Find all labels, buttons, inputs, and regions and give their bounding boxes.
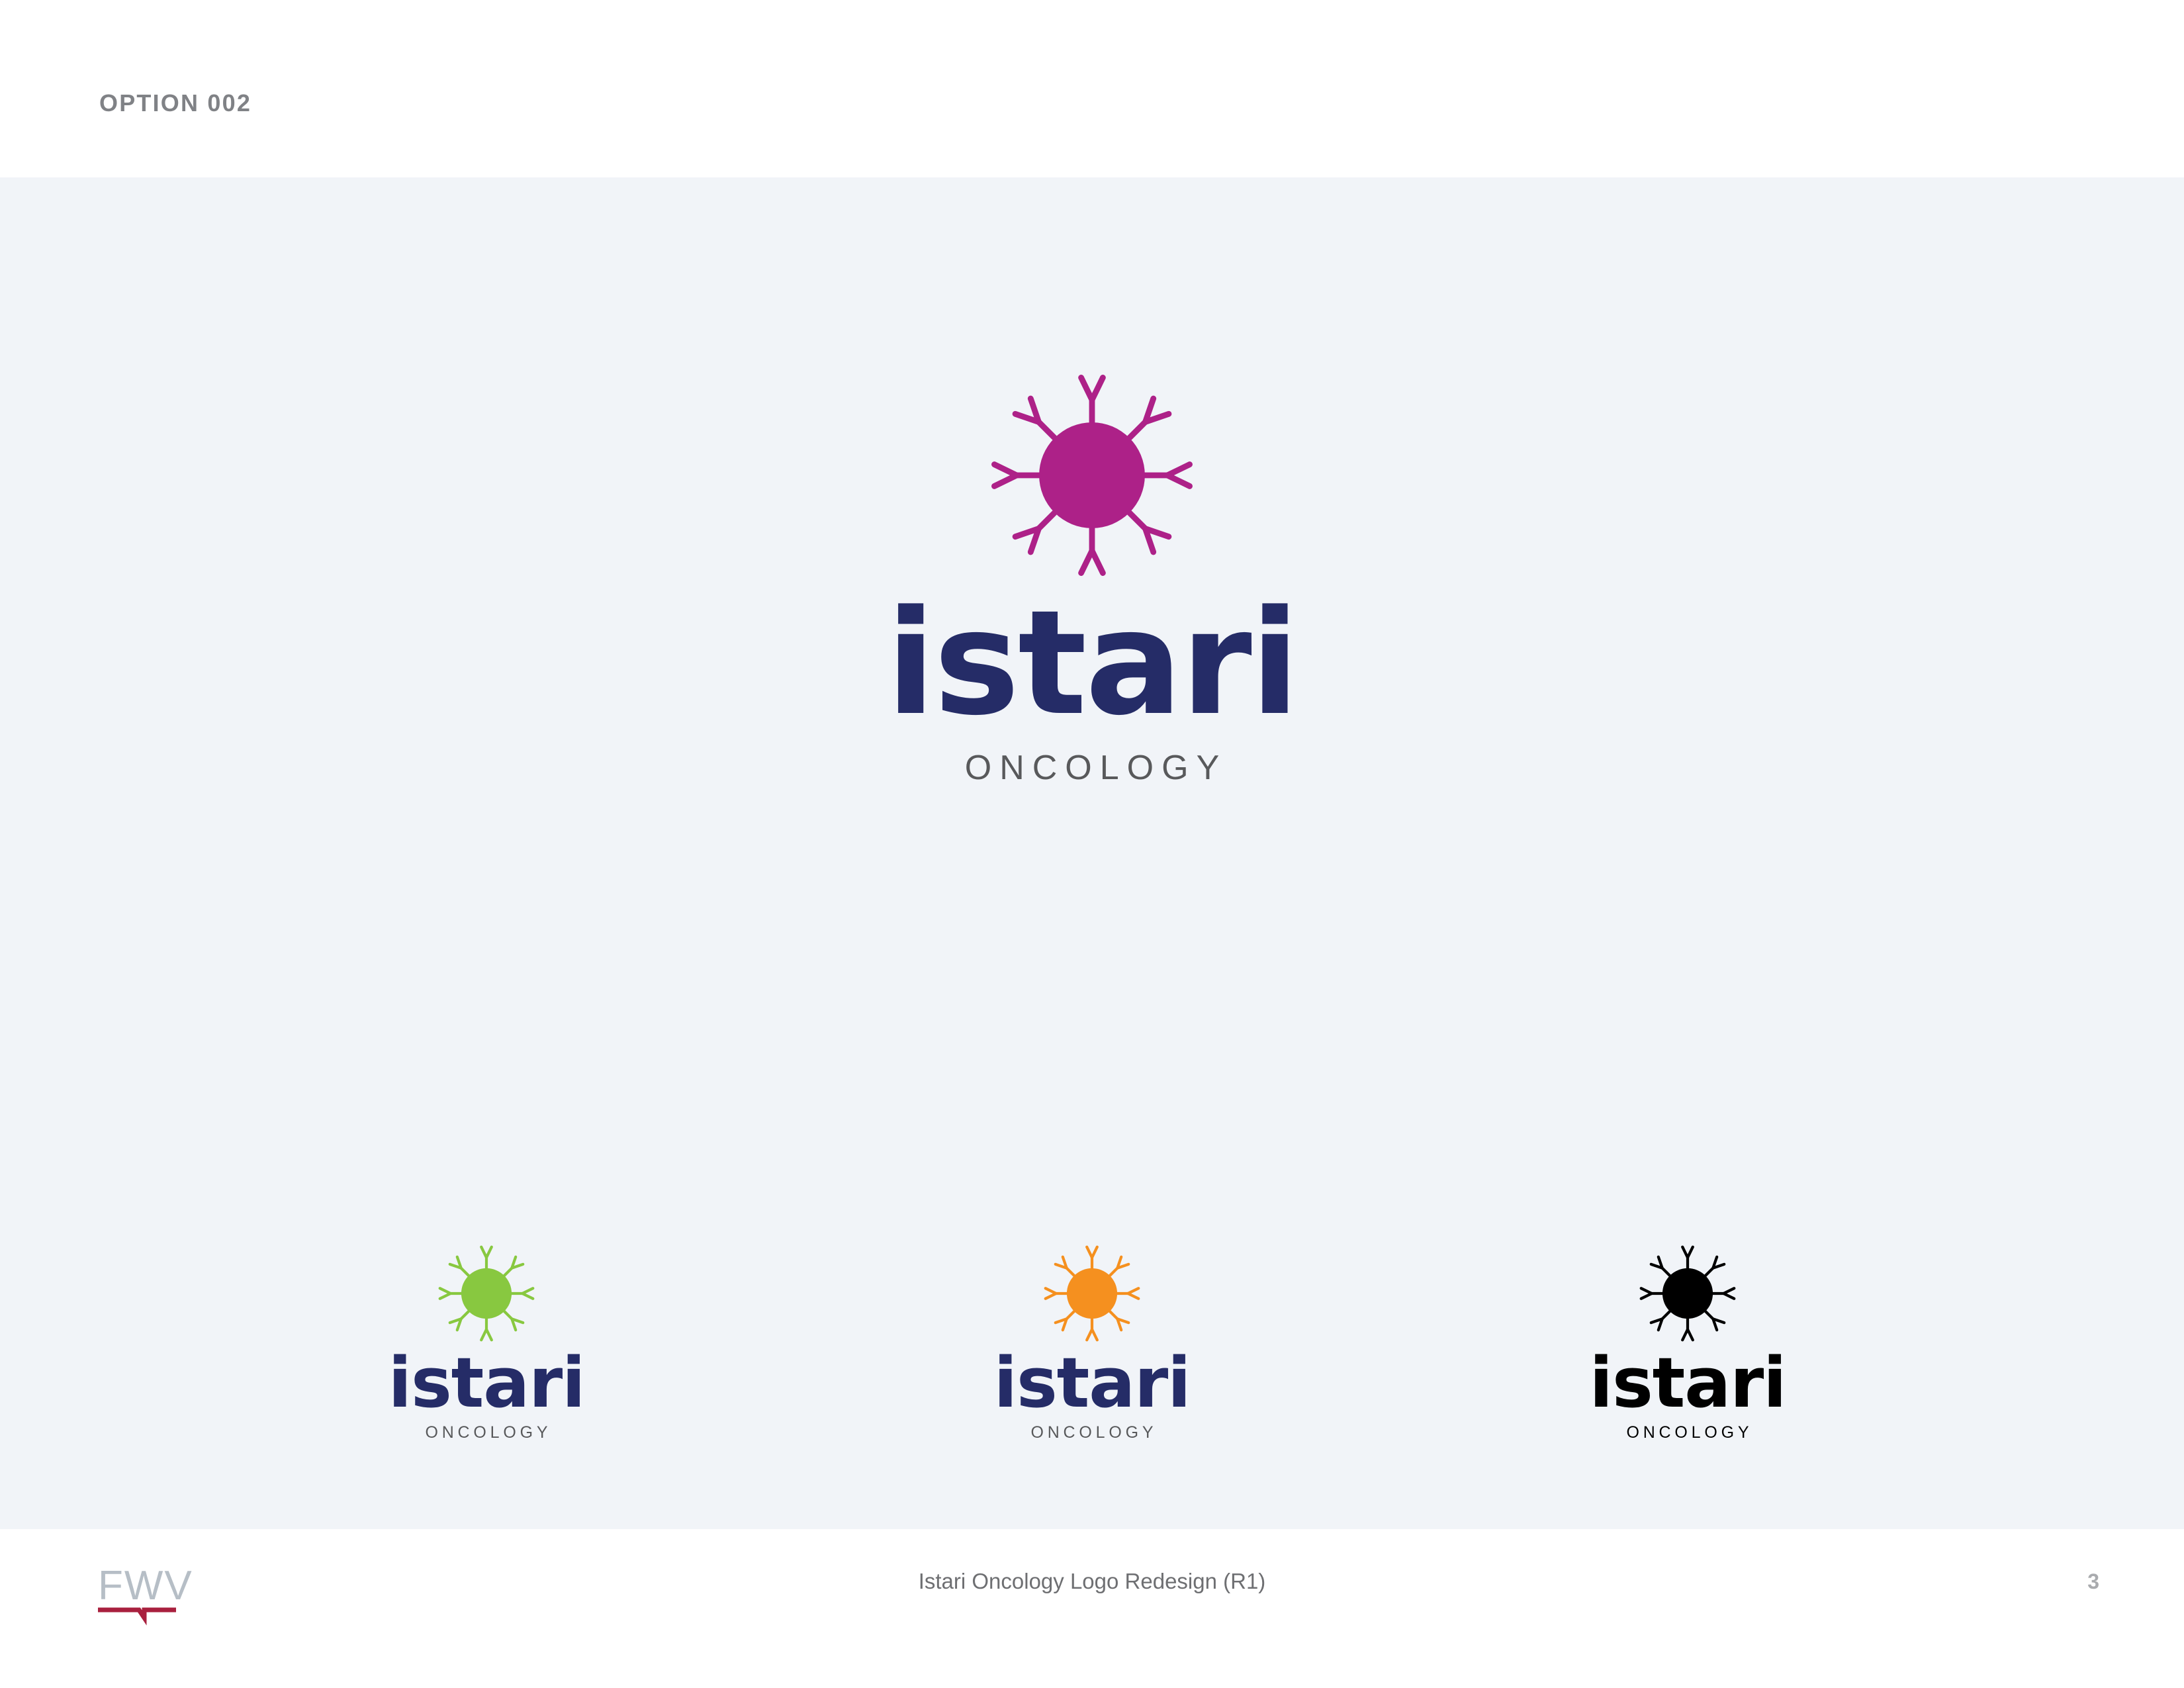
black-logo-variant: istari ONCOLOGY (1516, 1240, 1860, 1441)
primary-wordmark: istari (886, 592, 1298, 736)
variant-tagline: ONCOLOGY (422, 1425, 552, 1441)
variant-wordmark: istari (994, 1348, 1191, 1417)
logo-canvas-panel: istari ONCOLOGY istari ONCOLOGY istari (0, 177, 2184, 1529)
variant-wordmark: istari (1590, 1348, 1786, 1417)
orange-mark-wrapper (1038, 1240, 1146, 1347)
virus-core-circle (1039, 422, 1145, 528)
virus-core-circle (1662, 1268, 1713, 1319)
orange-logo-variant: istari ONCOLOGY (920, 1240, 1264, 1441)
virus-burst-icon (1038, 1240, 1146, 1347)
option-label: OPTION 002 (99, 89, 251, 117)
color-variants-row: istari ONCOLOGY istari ONCOLOGY istari O (0, 1240, 2184, 1538)
slide-footer: FWV Istari Oncology Logo Redesign (R1) 3 (0, 1529, 2184, 1688)
green-logo-variant: istari ONCOLOGY (314, 1240, 659, 1441)
black-mark-wrapper (1634, 1240, 1741, 1347)
variant-wordmark: istari (388, 1348, 585, 1417)
virus-burst-icon (979, 363, 1205, 588)
variant-tagline: ONCOLOGY (1027, 1425, 1158, 1441)
page-number: 3 (2087, 1570, 2099, 1594)
primary-tagline: ONCOLOGY (957, 751, 1228, 785)
virus-core-circle (461, 1268, 512, 1319)
primary-mark-wrapper (979, 363, 1205, 588)
variant-tagline: ONCOLOGY (1623, 1425, 1753, 1441)
fwv-underline-rule (98, 1610, 176, 1618)
virus-core-circle (1067, 1268, 1117, 1319)
deck-title: Istari Oncology Logo Redesign (R1) (0, 1569, 2184, 1594)
primary-logo-lockup: istari ONCOLOGY (0, 363, 2184, 785)
virus-burst-icon (433, 1240, 540, 1347)
slide-header: OPTION 002 (0, 0, 2184, 177)
virus-burst-icon (1634, 1240, 1741, 1347)
green-mark-wrapper (433, 1240, 540, 1347)
